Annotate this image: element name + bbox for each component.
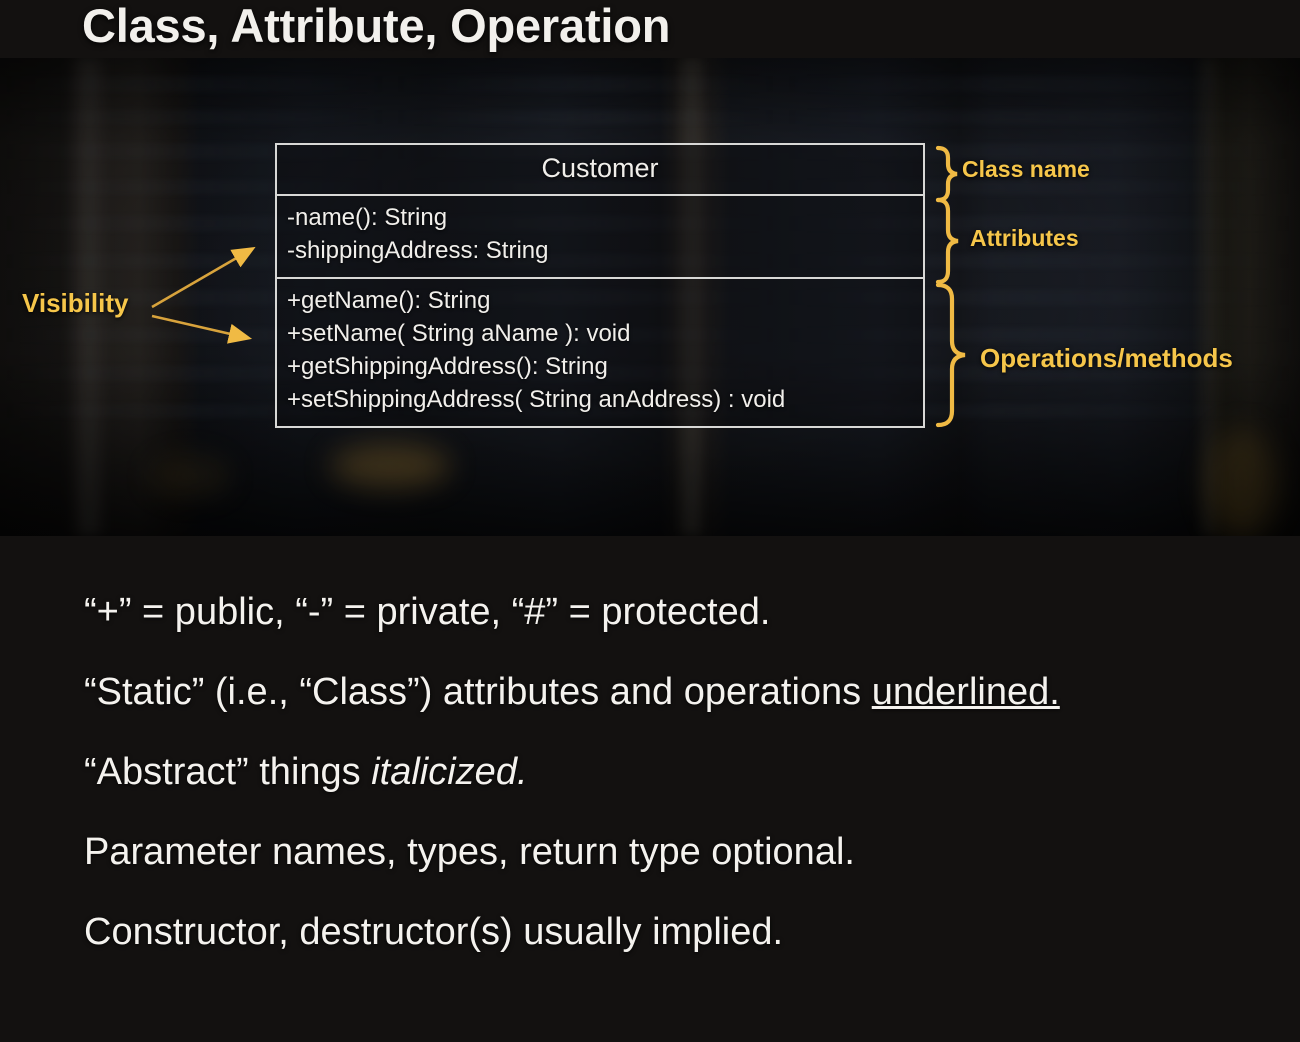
bullet-text: “+” = public, “-” = private, “#” = prote… [84, 591, 770, 633]
bullet-text-underlined: underlined. [872, 671, 1060, 713]
bullet-item: “Abstract” things italicized. [84, 746, 1214, 798]
bullet-text: “Abstract” things [84, 751, 371, 793]
bullet-text: “Static” (i.e., “Class”) attributes and … [84, 671, 872, 713]
annotation-attributes-label: Attributes [970, 225, 1079, 252]
uml-operation-row: +getName(): String [287, 284, 923, 317]
bullet-item: “Static” (i.e., “Class”) attributes and … [84, 666, 1214, 718]
uml-class-name: Customer [277, 145, 923, 196]
bullet-item: Constructor, destructor(s) usually impli… [84, 906, 1214, 958]
bullet-text: Constructor, destructor(s) usually impli… [84, 911, 783, 953]
uml-operations-section: +getName(): String +setName( String aNam… [277, 279, 923, 426]
uml-attribute-row: -shippingAddress: String [287, 234, 923, 267]
bullet-list: “+” = public, “-” = private, “#” = prote… [84, 586, 1214, 986]
bullet-text-italic: italicized. [371, 751, 527, 793]
uml-class-box: Customer -name(): String -shippingAddres… [275, 143, 925, 428]
annotation-class-name-label: Class name [962, 156, 1090, 183]
uml-attribute-row: -name(): String [287, 201, 923, 234]
bullet-text: Parameter names, types, return type opti… [84, 831, 855, 873]
uml-attributes-section: -name(): String -shippingAddress: String [277, 196, 923, 279]
annotation-operations-label: Operations/methods [980, 343, 1233, 374]
annotation-visibility-label: Visibility [22, 288, 128, 319]
uml-operation-row: +setShippingAddress( String anAddress) :… [287, 383, 923, 416]
page-title: Class, Attribute, Operation [82, 0, 670, 53]
bullet-item: Parameter names, types, return type opti… [84, 826, 1214, 878]
bullet-item: “+” = public, “-” = private, “#” = prote… [84, 586, 1214, 638]
uml-operation-row: +getShippingAddress(): String [287, 350, 923, 383]
slide-canvas: Class, Attribute, Operation Customer -na… [0, 0, 1300, 1042]
uml-operation-row: +setName( String aName ): void [287, 317, 923, 350]
